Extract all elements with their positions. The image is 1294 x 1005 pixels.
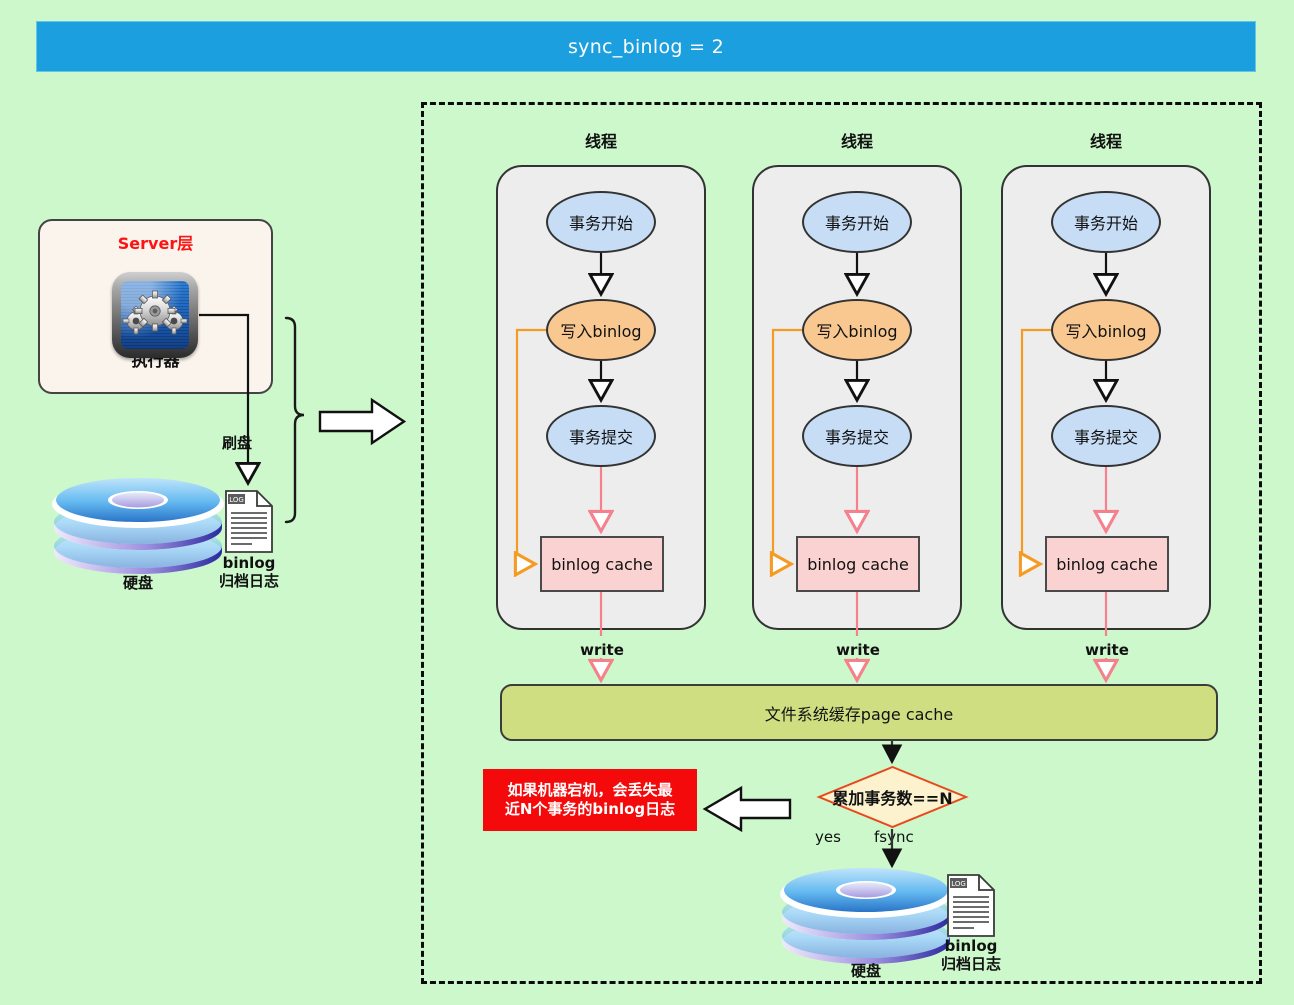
node-transaction-commit-2: 事务提交 <box>802 405 912 467</box>
node-transaction-commit-3: 事务提交 <box>1051 405 1161 467</box>
page-cache-bar: 文件系统缓存page cache <box>500 684 1218 741</box>
node-transaction-commit-1: 事务提交 <box>546 405 656 467</box>
node-write-binlog-3: 写入binlog <box>1051 299 1161 361</box>
log-document-caption-bottom: binlog 归档日志 <box>918 937 1024 973</box>
write-label-1: write <box>557 641 647 659</box>
gear-app-icon <box>112 272 198 358</box>
svg-text:LOG: LOG <box>951 880 966 888</box>
decision-label: 累加事务数==N <box>790 765 995 829</box>
node-binlog-cache-1: binlog cache <box>540 536 664 592</box>
server-layer-title: Server层 <box>40 230 271 254</box>
binlog-caption-bottom-line1: binlog <box>918 937 1024 955</box>
diagram-canvas: sync_binlog = 2 Server层 执行器 <box>0 0 1294 1005</box>
log-document-caption-left: binlog 归档日志 <box>196 554 302 590</box>
node-write-binlog-1: 写入binlog <box>546 299 656 361</box>
thread-title-1: 线程 <box>531 128 671 152</box>
warning-line-2: 近N个事务的binlog日志 <box>505 800 675 819</box>
branch-label-yes: yes <box>815 828 841 846</box>
thread-title-2: 线程 <box>787 128 927 152</box>
page-cache-label: 文件系统缓存page cache <box>765 701 953 725</box>
log-document-icon-left: LOG <box>224 489 274 554</box>
warning-line-1: 如果机器宕机，会丢失最 <box>505 781 675 800</box>
flush-arrow-label: 刷盘 <box>222 432 252 453</box>
node-transaction-start-2: 事务开始 <box>802 191 912 253</box>
banner-title: sync_binlog = 2 <box>568 36 724 58</box>
node-binlog-cache-3: binlog cache <box>1045 536 1169 592</box>
block-arrow-right <box>320 400 404 443</box>
node-transaction-start-3: 事务开始 <box>1051 191 1161 253</box>
write-label-2: write <box>813 641 903 659</box>
svg-text:LOG: LOG <box>229 496 244 504</box>
warning-box: 如果机器宕机，会丢失最 近N个事务的binlog日志 <box>483 769 697 831</box>
log-document-icon-bottom: LOG <box>946 873 996 938</box>
node-binlog-cache-2: binlog cache <box>796 536 920 592</box>
title-banner: sync_binlog = 2 <box>36 21 1256 72</box>
write-label-3: write <box>1062 641 1152 659</box>
thread-title-3: 线程 <box>1036 128 1176 152</box>
node-transaction-start-1: 事务开始 <box>546 191 656 253</box>
node-write-binlog-2: 写入binlog <box>802 299 912 361</box>
branch-label-fsync: fsync <box>874 828 914 846</box>
binlog-caption-line2: 归档日志 <box>196 572 302 590</box>
binlog-caption-line1: binlog <box>196 554 302 572</box>
curly-brace <box>286 318 304 522</box>
decision-diamond: 累加事务数==N <box>790 765 995 829</box>
binlog-caption-bottom-line2: 归档日志 <box>918 955 1024 973</box>
